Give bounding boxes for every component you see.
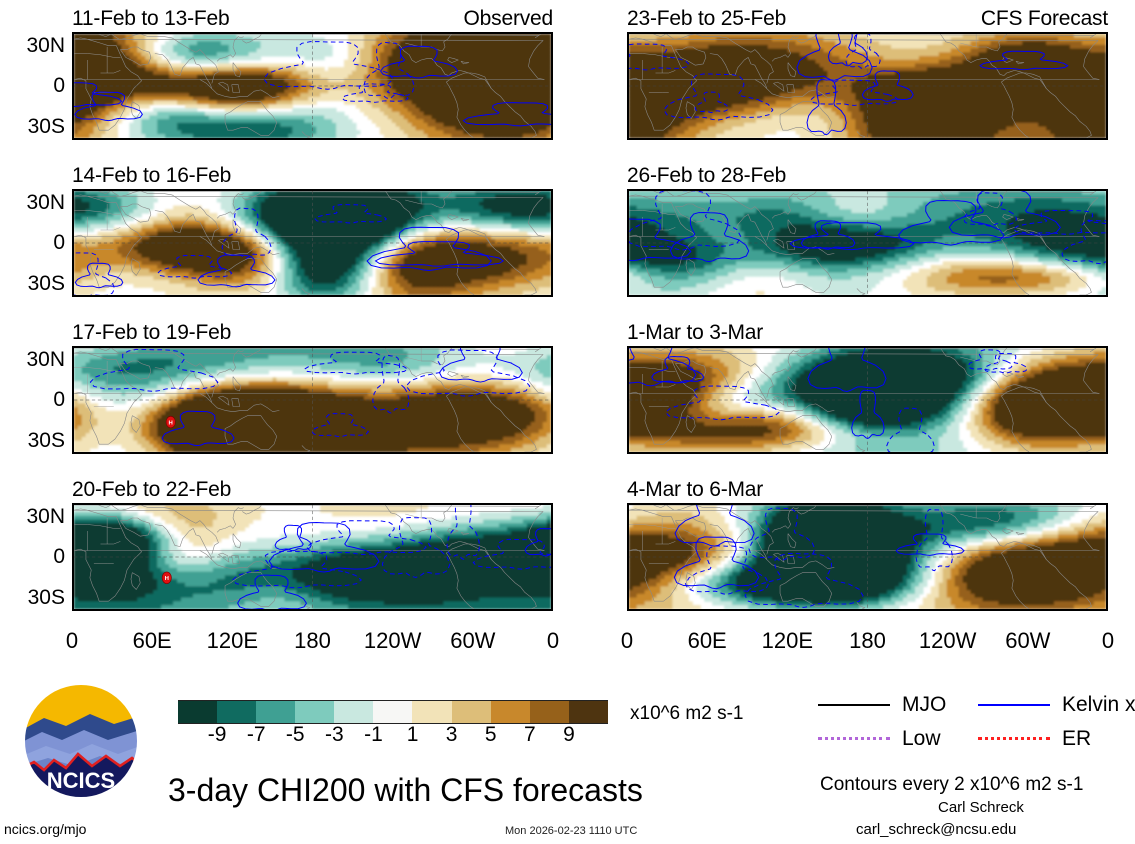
x-axis-tick-label: 60E: [133, 630, 172, 652]
map-canvas: H: [74, 505, 551, 609]
legend-line-swatch: [818, 737, 890, 740]
cyclone-marker: H: [162, 572, 171, 584]
map-frame[interactable]: [627, 503, 1108, 611]
legend-line-swatch: [978, 704, 1050, 706]
column-header: CFS Forecast: [981, 8, 1108, 29]
map-frame[interactable]: H: [72, 346, 553, 454]
contour-interval-note: Contours every 2 x10^6 m2 s-1: [820, 775, 1083, 794]
map-canvas: [74, 34, 551, 138]
map-canvas: H: [74, 348, 551, 452]
legend-item[interactable]: ER: [978, 728, 1091, 749]
logo-wordmark: NCICS: [47, 768, 115, 793]
colorbar-tick-labels: -9-7-5-3-113579: [178, 724, 608, 748]
ncics-logo: NCICS: [22, 682, 140, 800]
colorbar-tick-label: -3: [325, 724, 344, 745]
colorbar-swatch: [217, 700, 256, 724]
x-axis-tick-label: 120W: [364, 630, 421, 652]
y-axis-tick-label: 30N: [26, 349, 65, 370]
page-title: 3-day CHI200 with CFS forecasts: [168, 774, 643, 806]
y-axis-tick-label: 30S: [28, 273, 65, 294]
colorbar-swatch: [178, 700, 217, 724]
x-axis-tick-label: 0: [1102, 630, 1114, 652]
x-axis-tick-label: 180: [849, 630, 886, 652]
timestamp: Mon 2026-02-23 1110 UTC: [505, 826, 637, 837]
colorbar-swatch: [295, 700, 334, 724]
map-canvas: [629, 348, 1106, 452]
colorbar-tick-label: 7: [524, 724, 536, 745]
map-canvas: [74, 191, 551, 295]
legend-label: MJO: [902, 694, 946, 715]
legend-label: ER: [1062, 728, 1091, 749]
cyclone-marker: H: [166, 416, 175, 428]
x-axis-tick-label: 0: [66, 630, 78, 652]
panel-title: 17-Feb to 19-Feb: [72, 322, 231, 343]
colorbar-swatch: [373, 700, 412, 724]
legend-label: Low: [902, 728, 941, 749]
x-axis-tick-label: 0: [621, 630, 633, 652]
colorbar-tick-label: -9: [208, 724, 227, 745]
map-frame[interactable]: [72, 189, 553, 297]
author-email[interactable]: carl_schreck@ncsu.edu: [856, 822, 1016, 837]
x-axis-tick-label: 60E: [688, 630, 727, 652]
map-frame[interactable]: [627, 189, 1108, 297]
y-axis-tick-label: 30S: [28, 587, 65, 608]
x-axis: 060E120E180120W60W0: [627, 630, 1108, 660]
map-canvas: [629, 505, 1106, 609]
map-canvas: [629, 191, 1106, 295]
colorbar-tick-label: 3: [446, 724, 458, 745]
y-axis-tick-label: 0: [53, 75, 65, 96]
y-axis-tick-label: 0: [53, 389, 65, 410]
colorbar-tick-label: -5: [286, 724, 305, 745]
y-axis-tick-label: 0: [53, 232, 65, 253]
author-name: Carl Schreck: [938, 800, 1024, 815]
map-panel: 26-Feb to 28-Feb: [627, 165, 1108, 297]
legend-item[interactable]: Kelvin x2: [978, 694, 1135, 715]
map-panel: 17-Feb to 19-FebH30N030S: [72, 322, 553, 454]
colorbar-tick-label: 9: [563, 724, 575, 745]
colorbar-swatch: [452, 700, 491, 724]
map-panel: 4-Mar to 6-Mar: [627, 479, 1108, 611]
y-axis-tick-label: 30S: [28, 430, 65, 451]
map-canvas: [629, 34, 1106, 138]
panel-title: 1-Mar to 3-Mar: [627, 322, 763, 343]
map-frame[interactable]: H: [72, 503, 553, 611]
panel-title: 26-Feb to 28-Feb: [627, 165, 786, 186]
panel-title: 20-Feb to 22-Feb: [72, 479, 231, 500]
panel-title: 4-Mar to 6-Mar: [627, 479, 763, 500]
colorbar-swatch: [530, 700, 569, 724]
map-frame[interactable]: [627, 346, 1108, 454]
colorbar-swatch: [334, 700, 373, 724]
ncics-logo-graphic: NCICS: [22, 682, 140, 800]
map-panel: 20-Feb to 22-FebH30N030S: [72, 479, 553, 611]
x-axis-tick-label: 60W: [450, 630, 495, 652]
legend-line-swatch: [818, 704, 890, 706]
x-axis-tick-label: 120W: [919, 630, 976, 652]
y-axis-tick-label: 30N: [26, 35, 65, 56]
y-axis-tick-label: 30N: [26, 506, 65, 527]
panel-title: 11-Feb to 13-Feb: [72, 8, 230, 29]
legend-label: Kelvin x2: [1062, 694, 1135, 715]
colorbar-tick-label: 5: [485, 724, 497, 745]
map-frame[interactable]: [627, 32, 1108, 140]
panel-title: 14-Feb to 16-Feb: [72, 165, 231, 186]
y-axis-tick-label: 30S: [28, 116, 65, 137]
x-axis: 060E120E180120W60W0: [72, 630, 553, 660]
legend-item[interactable]: Low: [818, 728, 941, 749]
map-frame[interactable]: [72, 32, 553, 140]
map-panel: 23-Feb to 25-FebCFS Forecast: [627, 8, 1108, 140]
legend-line-swatch: [978, 737, 1050, 740]
colorbar-swatch: [412, 700, 451, 724]
x-axis-tick-label: 180: [294, 630, 331, 652]
map-panel: 14-Feb to 16-Feb30N030S: [72, 165, 553, 297]
map-panel: 1-Mar to 3-Mar: [627, 322, 1108, 454]
colorbar-swatch: [491, 700, 530, 724]
site-url[interactable]: ncics.org/mjo: [4, 822, 86, 836]
y-axis-tick-label: 30N: [26, 192, 65, 213]
map-panel: 11-Feb to 13-FebObserved30N030S: [72, 8, 553, 140]
colorbar-tick-label: 1: [407, 724, 419, 745]
colorbar-tick-label: -1: [364, 724, 383, 745]
x-axis-tick-label: 120E: [762, 630, 813, 652]
colorbar-swatch: [256, 700, 295, 724]
legend-item[interactable]: MJO: [818, 694, 946, 715]
colorbar-swatch: [569, 700, 608, 724]
panel-title: 23-Feb to 25-Feb: [627, 8, 786, 29]
y-axis-tick-label: 0: [53, 546, 65, 567]
x-axis-tick-label: 0: [547, 630, 559, 652]
column-header: Observed: [464, 8, 553, 29]
colorbar-tick-label: -7: [247, 724, 266, 745]
colorbar: [178, 700, 608, 724]
colorbar-units-label: x10^6 m2 s-1: [630, 704, 743, 723]
x-axis-tick-label: 60W: [1005, 630, 1050, 652]
x-axis-tick-label: 120E: [207, 630, 258, 652]
